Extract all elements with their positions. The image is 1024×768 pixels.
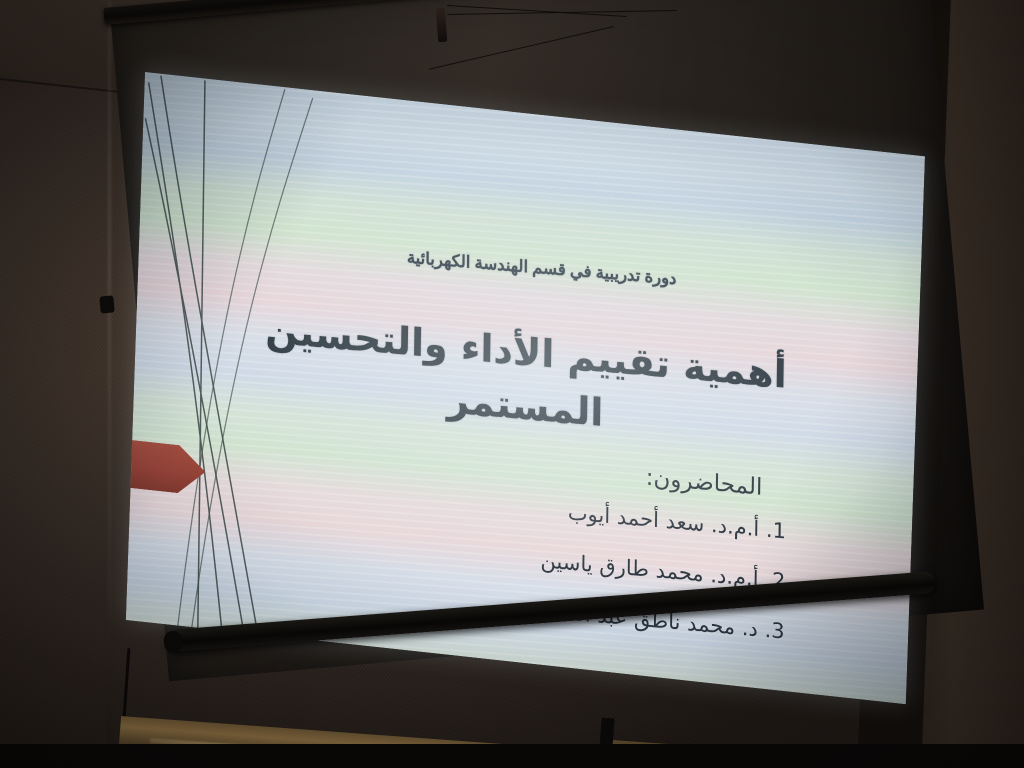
- wall-corner-edge: [108, 0, 111, 768]
- screen-roller-end-cap: [99, 295, 114, 313]
- floor-shadow: [0, 744, 1024, 768]
- classroom-scene: دورة تدريبية في قسم الهندسة الكهربائية أ…: [0, 0, 1024, 768]
